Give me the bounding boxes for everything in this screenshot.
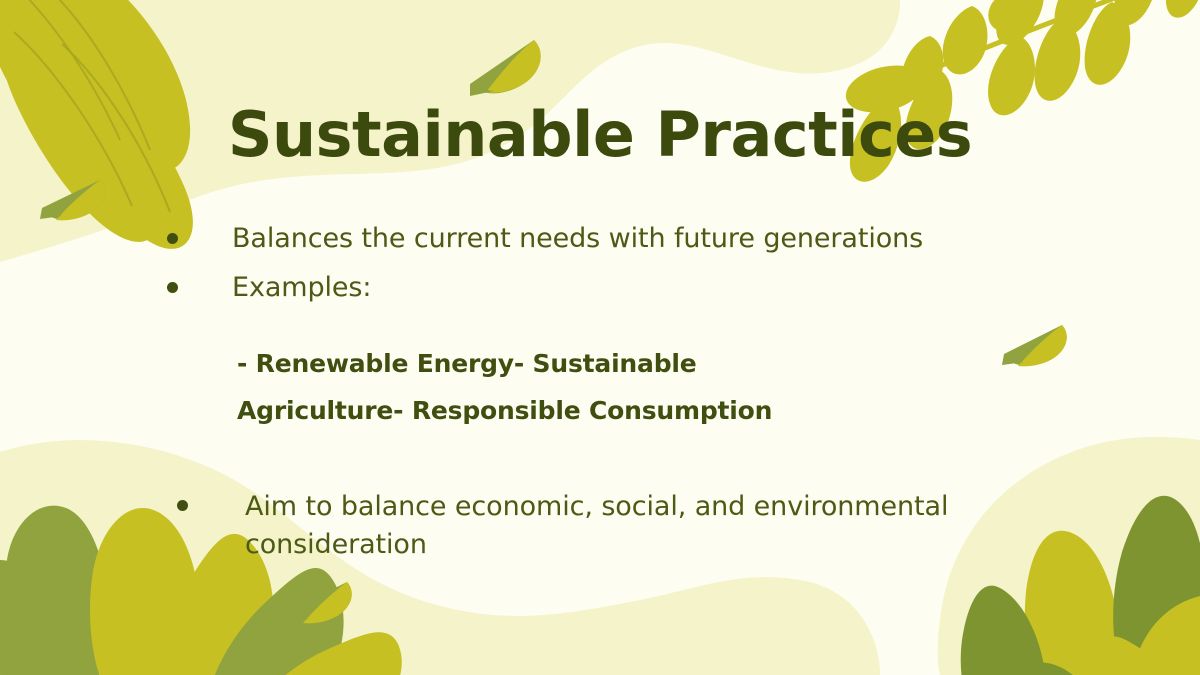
bullet-dot-icon	[167, 233, 178, 244]
page-title: Sustainable Practices	[0, 102, 1200, 167]
bullet-dot-icon	[177, 500, 188, 511]
bullet-item-1: Balances the current needs with future g…	[167, 220, 1067, 258]
bullet-label-3: Aim to balance economic, social, and env…	[245, 488, 977, 565]
slide-canvas: Sustainable Practices Balances the curre…	[0, 0, 1200, 675]
bullet-label-2: Examples:	[232, 269, 371, 307]
slide-content: Sustainable Practices Balances the curre…	[0, 0, 1200, 675]
bullet-label-1: Balances the current needs with future g…	[232, 220, 923, 258]
bullet-item-3: Aim to balance economic, social, and env…	[177, 488, 977, 565]
bullet-dot-icon	[167, 282, 178, 293]
examples-paragraph: - Renewable Energy- Sustainable Agricult…	[237, 340, 797, 434]
bullet-item-2: Examples:	[167, 269, 767, 307]
